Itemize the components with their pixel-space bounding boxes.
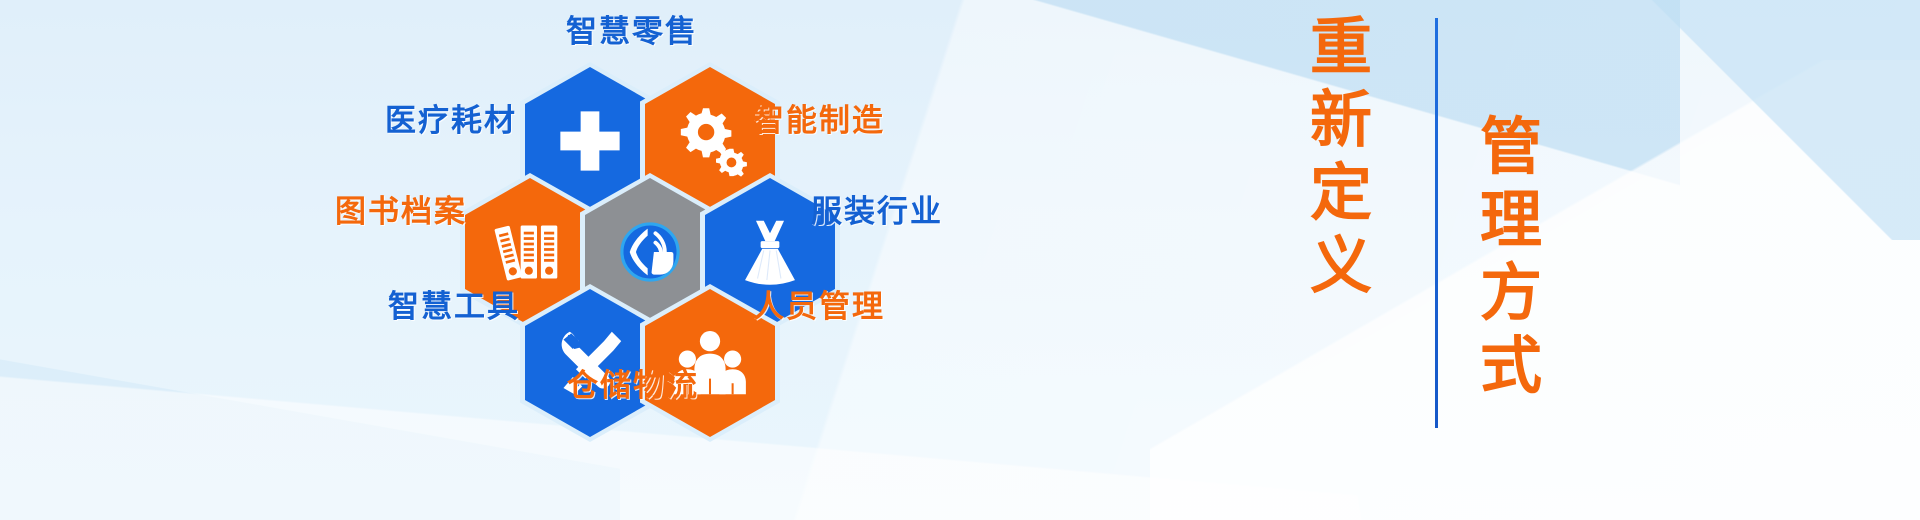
company-logo-icon (611, 213, 689, 291)
calligraphy-column-right: 管 理 方 式 (1480, 110, 1542, 403)
medical-cross-icon (551, 102, 629, 180)
hexagon-cluster (470, 0, 1030, 520)
calligraphy-char: 方 (1480, 256, 1542, 329)
dress-icon (731, 213, 809, 291)
label-manufacturing: 智能制造 (753, 105, 885, 136)
label-people: 人员管理 (753, 291, 885, 322)
calligraphy-char: 管 (1480, 110, 1542, 183)
calligraphy-block: 重 新 定 义 管 理 方 式 (1280, 0, 1700, 520)
calligraphy-divider (1435, 18, 1438, 428)
label-medical: 医疗耗材 (385, 105, 517, 136)
label-apparel: 服装行业 (811, 196, 943, 227)
calligraphy-char: 定 (1310, 156, 1372, 229)
label-tools: 智慧工具 (388, 291, 520, 322)
calligraphy-column-left: 重 新 定 义 (1310, 10, 1372, 303)
banner-stage: 智慧零售 医疗耗材 智能制造 图书档案 服装行业 智慧工具 人员管理 仓储物流 … (0, 0, 1920, 520)
calligraphy-char: 新 (1310, 83, 1372, 156)
calligraphy-char: 重 (1310, 10, 1372, 83)
label-retail: 智慧零售 (566, 16, 698, 47)
gears-icon (671, 102, 749, 180)
hex-shape-tools (525, 289, 655, 437)
calligraphy-char: 式 (1480, 329, 1542, 402)
label-logistics: 仓储物流 (567, 370, 699, 401)
binder-folders-icon (491, 213, 569, 291)
calligraphy-char: 理 (1480, 183, 1542, 256)
label-books: 图书档案 (335, 196, 467, 227)
calligraphy-char: 义 (1310, 229, 1372, 302)
